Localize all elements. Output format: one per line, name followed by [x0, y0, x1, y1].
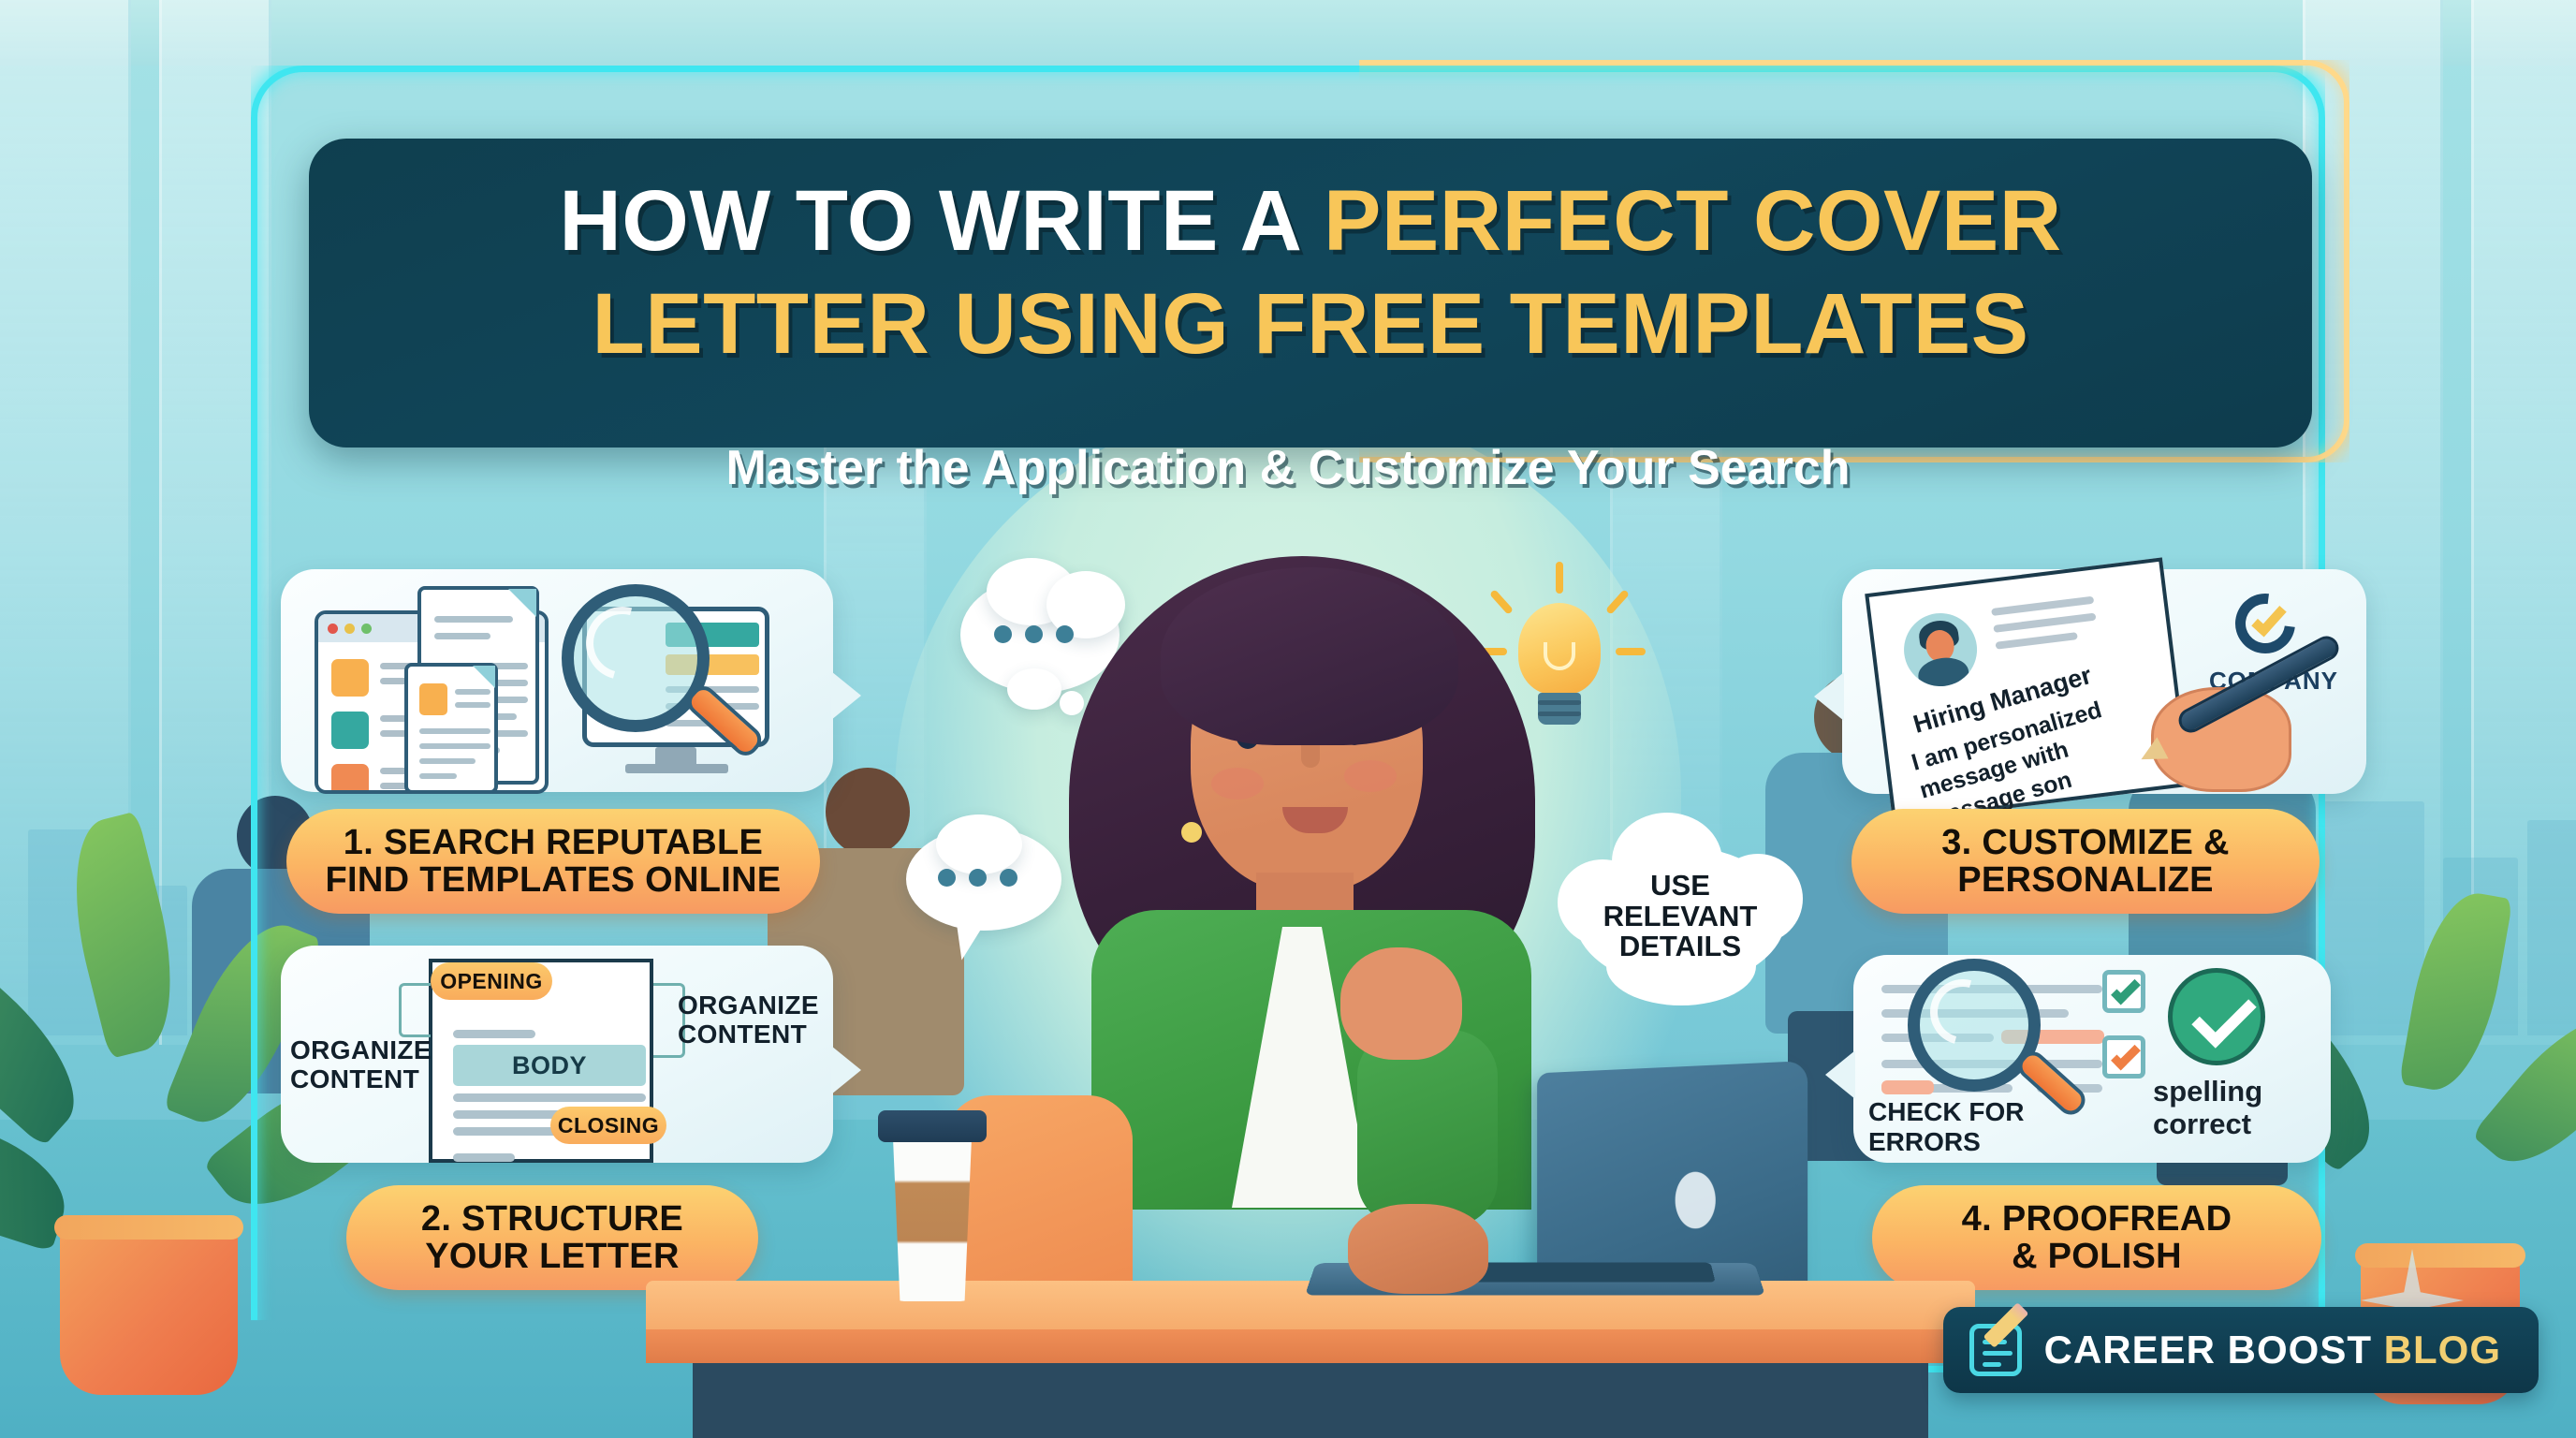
- step-3-line-2: PERSONALIZE: [1957, 861, 2214, 899]
- laptop-logo: [1676, 1171, 1716, 1228]
- organize-content-label-left: ORGANIZE CONTENT: [290, 1035, 432, 1094]
- card-structure-letter: BODY OPENING CLOSING ORGANIZE CONTENT OR…: [281, 946, 833, 1163]
- check-for-errors-label: CHECK FOR ERRORS: [1868, 1097, 2024, 1157]
- checkbox-green[interactable]: [2102, 970, 2145, 1013]
- title-panel: HOW TO WRITE A PERFECT COVER LETTER USIN…: [309, 139, 2312, 448]
- desk-edge: [646, 1329, 1975, 1363]
- cloud-line-2: RELEVANT: [1603, 902, 1758, 932]
- card-personalize: Hiring Manager I am personalized message…: [1842, 569, 2366, 794]
- spelling-correct-label: spelling correct: [2153, 1075, 2262, 1141]
- resting-hand: [1340, 947, 1462, 1060]
- success-check-icon: [2168, 968, 2265, 1065]
- bracket-left: [399, 983, 431, 1037]
- cloud-bubble-use-relevant-details: USE RELEVANT DETAILS: [1554, 807, 1807, 1004]
- infographic-canvas: HOW TO WRITE A PERFECT COVER LETTER USIN…: [0, 0, 2576, 1438]
- card-proofread: CHECK FOR ERRORS spelling correct: [1853, 955, 2331, 1163]
- closing-tag: CLOSING: [550, 1107, 666, 1144]
- brand-text: CAREER BOOST BLOG: [2044, 1328, 2501, 1372]
- title-white-part: HOW TO WRITE A: [559, 173, 1324, 269]
- step-4-line-1: 4. PROOFREAD: [1962, 1200, 2232, 1238]
- card-find-templates: [281, 569, 833, 792]
- organize-right-line-2: CONTENT: [678, 1020, 819, 1049]
- step-2-line-2: YOUR LETTER: [425, 1238, 679, 1275]
- step-1-line-1: 1. SEARCH REPUTABLE: [344, 824, 763, 861]
- step-4-line-2: & POLISH: [2012, 1238, 2182, 1275]
- cloud-line-1: USE: [1650, 871, 1710, 902]
- spelling-line-1: spelling: [2153, 1075, 2262, 1108]
- step-pill-1[interactable]: 1. SEARCH REPUTABLE FIND TEMPLATES ONLIN…: [286, 809, 820, 914]
- title-line-2: LETTER USING FREE TEMPLATES: [309, 281, 2312, 367]
- magnifier-icon: [562, 584, 777, 790]
- earring: [1181, 822, 1202, 843]
- ceiling-strip: [0, 0, 2576, 66]
- brand-suffix: BLOG: [2384, 1328, 2501, 1372]
- organize-left-line-2: CONTENT: [290, 1064, 432, 1093]
- document-front: [404, 663, 498, 794]
- step-1-line-2: FIND TEMPLATES ONLINE: [326, 861, 782, 899]
- title-line-1: HOW TO WRITE A PERFECT COVER: [309, 178, 2312, 264]
- illustration-woman: [1048, 524, 1573, 1198]
- organize-right-line-1: ORGANIZE: [678, 990, 819, 1020]
- coffee-cup: [887, 1133, 977, 1301]
- brand-badge[interactable]: CAREER BOOST BLOG: [1943, 1307, 2539, 1393]
- check-errors-line-1: CHECK FOR: [1868, 1097, 2024, 1127]
- body-section-label: BODY: [453, 1045, 646, 1086]
- organize-content-label-right: ORGANIZE CONTENT: [678, 990, 819, 1049]
- step-3-line-1: 3. CUSTOMIZE &: [1941, 824, 2230, 861]
- cloud-text: USE RELEVANT DETAILS: [1569, 846, 1792, 987]
- organize-left-line-1: ORGANIZE: [290, 1035, 432, 1064]
- desk-front-panel: [693, 1363, 1928, 1438]
- coffee-cup-lid: [878, 1110, 987, 1142]
- title-yellow-part: PERFECT COVER: [1324, 173, 2062, 269]
- opening-tag: OPENING: [431, 962, 552, 1000]
- personalized-letter: Hiring Manager I am personalized message…: [1865, 557, 2190, 822]
- step-pill-4[interactable]: 4. PROOFREAD & POLISH: [1872, 1185, 2321, 1290]
- cloud-line-3: DETAILS: [1619, 932, 1741, 962]
- typing-hand: [1348, 1204, 1488, 1294]
- arm: [1357, 1030, 1498, 1226]
- step-pill-2[interactable]: 2. STRUCTURE YOUR LETTER: [346, 1185, 758, 1290]
- spelling-line-2: correct: [2153, 1108, 2262, 1140]
- check-errors-line-2: ERRORS: [1868, 1127, 2024, 1157]
- step-pill-3[interactable]: 3. CUSTOMIZE & PERSONALIZE: [1851, 809, 2320, 914]
- subtitle: Master the Application & Customize Your …: [0, 440, 2576, 496]
- brand-name: CAREER BOOST: [2044, 1328, 2372, 1372]
- note-pencil-icon: [1969, 1324, 2022, 1376]
- avatar: [1900, 609, 1982, 691]
- hair-front: [1161, 567, 1458, 745]
- step-2-line-1: 2. STRUCTURE: [421, 1200, 683, 1238]
- checkbox-orange[interactable]: [2102, 1035, 2145, 1078]
